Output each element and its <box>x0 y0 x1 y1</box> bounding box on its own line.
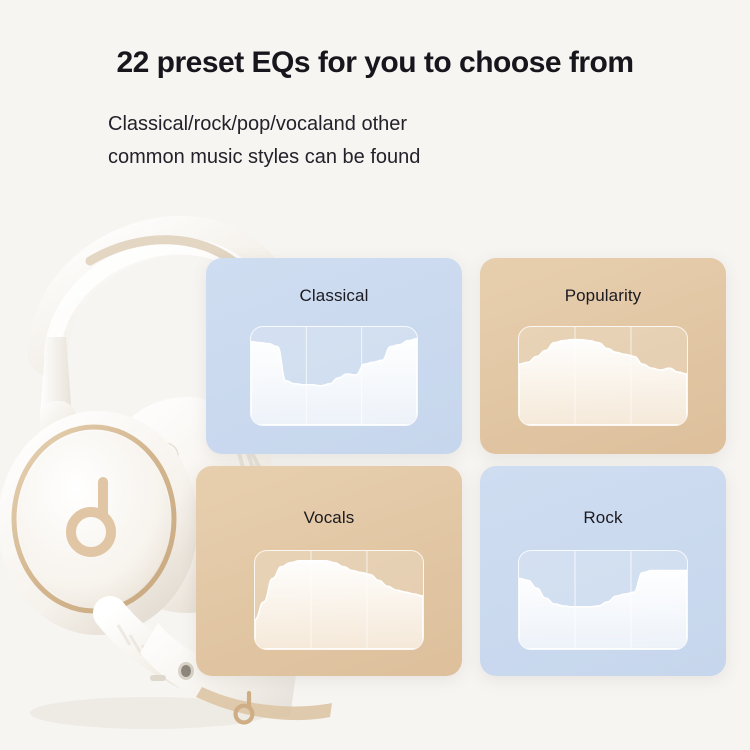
preset-card-vocals-label: Vocals <box>196 508 462 528</box>
preset-card-vocals[interactable]: Vocals <box>196 466 462 676</box>
ear-cup-plate <box>18 431 170 607</box>
page-subtitle-line-1: Classical/rock/pop/vocaland other <box>108 108 420 141</box>
page-subtitle: Classical/rock/pop/vocaland other common… <box>108 108 420 174</box>
page-title: 22 preset EQs for you to choose from <box>0 46 750 80</box>
preset-card-classical[interactable]: Classical <box>206 258 462 454</box>
ear-cup-front <box>0 411 198 635</box>
eq-curve-vocals <box>254 550 424 650</box>
preset-card-popularity[interactable]: Popularity <box>480 258 726 454</box>
preset-card-rock[interactable]: Rock <box>480 466 726 676</box>
hinge-ribbing <box>118 625 166 671</box>
eq-curve-classical <box>250 326 418 426</box>
soundcore-logo <box>71 477 111 552</box>
page-subtitle-line-2: common music styles can be found <box>108 141 420 174</box>
eq-curve-popularity <box>518 326 688 426</box>
eq-curve-rock-svg <box>519 551 687 649</box>
audio-jack-port <box>178 662 194 680</box>
eq-curve-vocals-svg <box>255 551 423 649</box>
eq-curve-classical-svg <box>251 327 417 425</box>
soundcore-logo-small <box>236 691 253 723</box>
eq-curve-popularity-svg <box>519 327 687 425</box>
eq-presets-page: 22 preset EQs for you to choose from Cla… <box>0 0 750 750</box>
bottom-gold-trim <box>196 687 332 720</box>
preset-card-rock-label: Rock <box>480 508 726 528</box>
headphones-shadow <box>30 697 270 729</box>
gold-accent-ring <box>14 427 174 611</box>
usb-c-port <box>150 675 166 681</box>
audio-jack-hole <box>181 665 191 677</box>
yoke-joint <box>40 401 76 441</box>
control-button[interactable] <box>138 443 178 471</box>
headband-slider-arm <box>40 337 72 417</box>
preset-card-popularity-label: Popularity <box>480 286 726 306</box>
eq-curve-rock <box>518 550 688 650</box>
preset-card-classical-label: Classical <box>206 286 462 306</box>
